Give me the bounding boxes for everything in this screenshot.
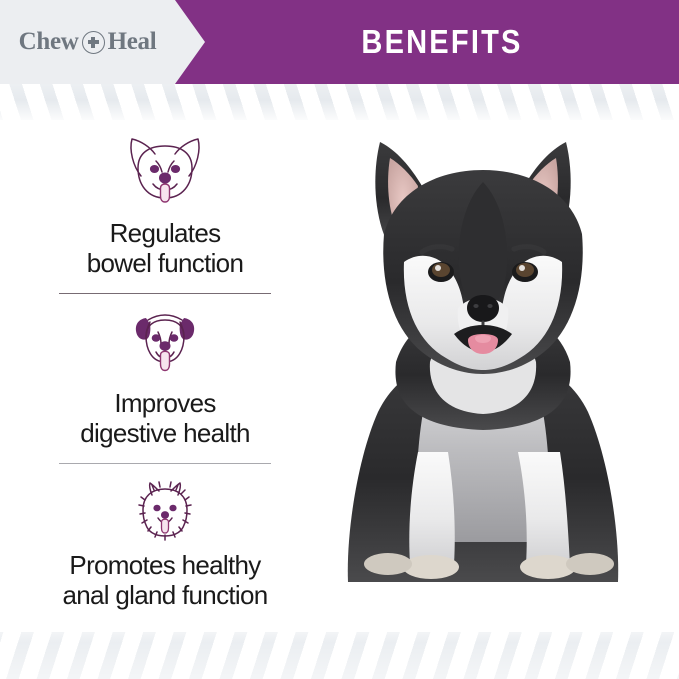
header-banner: Chew Heal BENEFITS — [0, 0, 679, 84]
circled-plus-icon — [82, 31, 105, 54]
brand-word-left: Chew — [19, 28, 79, 56]
terrier-dog-head-icon — [128, 308, 202, 382]
benefit-item: Improves digestive health — [20, 308, 310, 464]
benefit-label: Regulates bowel function — [20, 218, 310, 279]
brand-logo-text: Chew Heal — [19, 28, 157, 56]
benefits-list: Regulates bowel function — [20, 128, 310, 618]
brand-logo-plate: Chew Heal — [0, 0, 205, 84]
husky-dog-sitting-photo — [318, 112, 648, 632]
benefit-label: Promotes healthy anal gland function — [20, 550, 310, 611]
dog-illustration — [318, 112, 648, 632]
bottom-stripe-decoration — [0, 618, 679, 679]
benefit-divider — [59, 463, 271, 464]
benefit-label: Improves digestive health — [20, 388, 310, 449]
benefit-item: Promotes healthy anal gland function — [20, 478, 310, 611]
corgi-dog-head-icon — [123, 132, 207, 212]
brand-word-right: Heal — [108, 28, 157, 56]
benefit-item: Regulates bowel function — [20, 132, 310, 294]
page-title: BENEFITS — [233, 0, 650, 84]
brand-logo: Chew Heal — [0, 0, 175, 84]
samoyed-dog-head-icon — [132, 478, 198, 544]
stripe-fade-overlay — [0, 618, 679, 679]
benefit-divider — [59, 293, 271, 294]
product-benefits-infographic: Chew Heal BENEFITS — [0, 0, 679, 679]
